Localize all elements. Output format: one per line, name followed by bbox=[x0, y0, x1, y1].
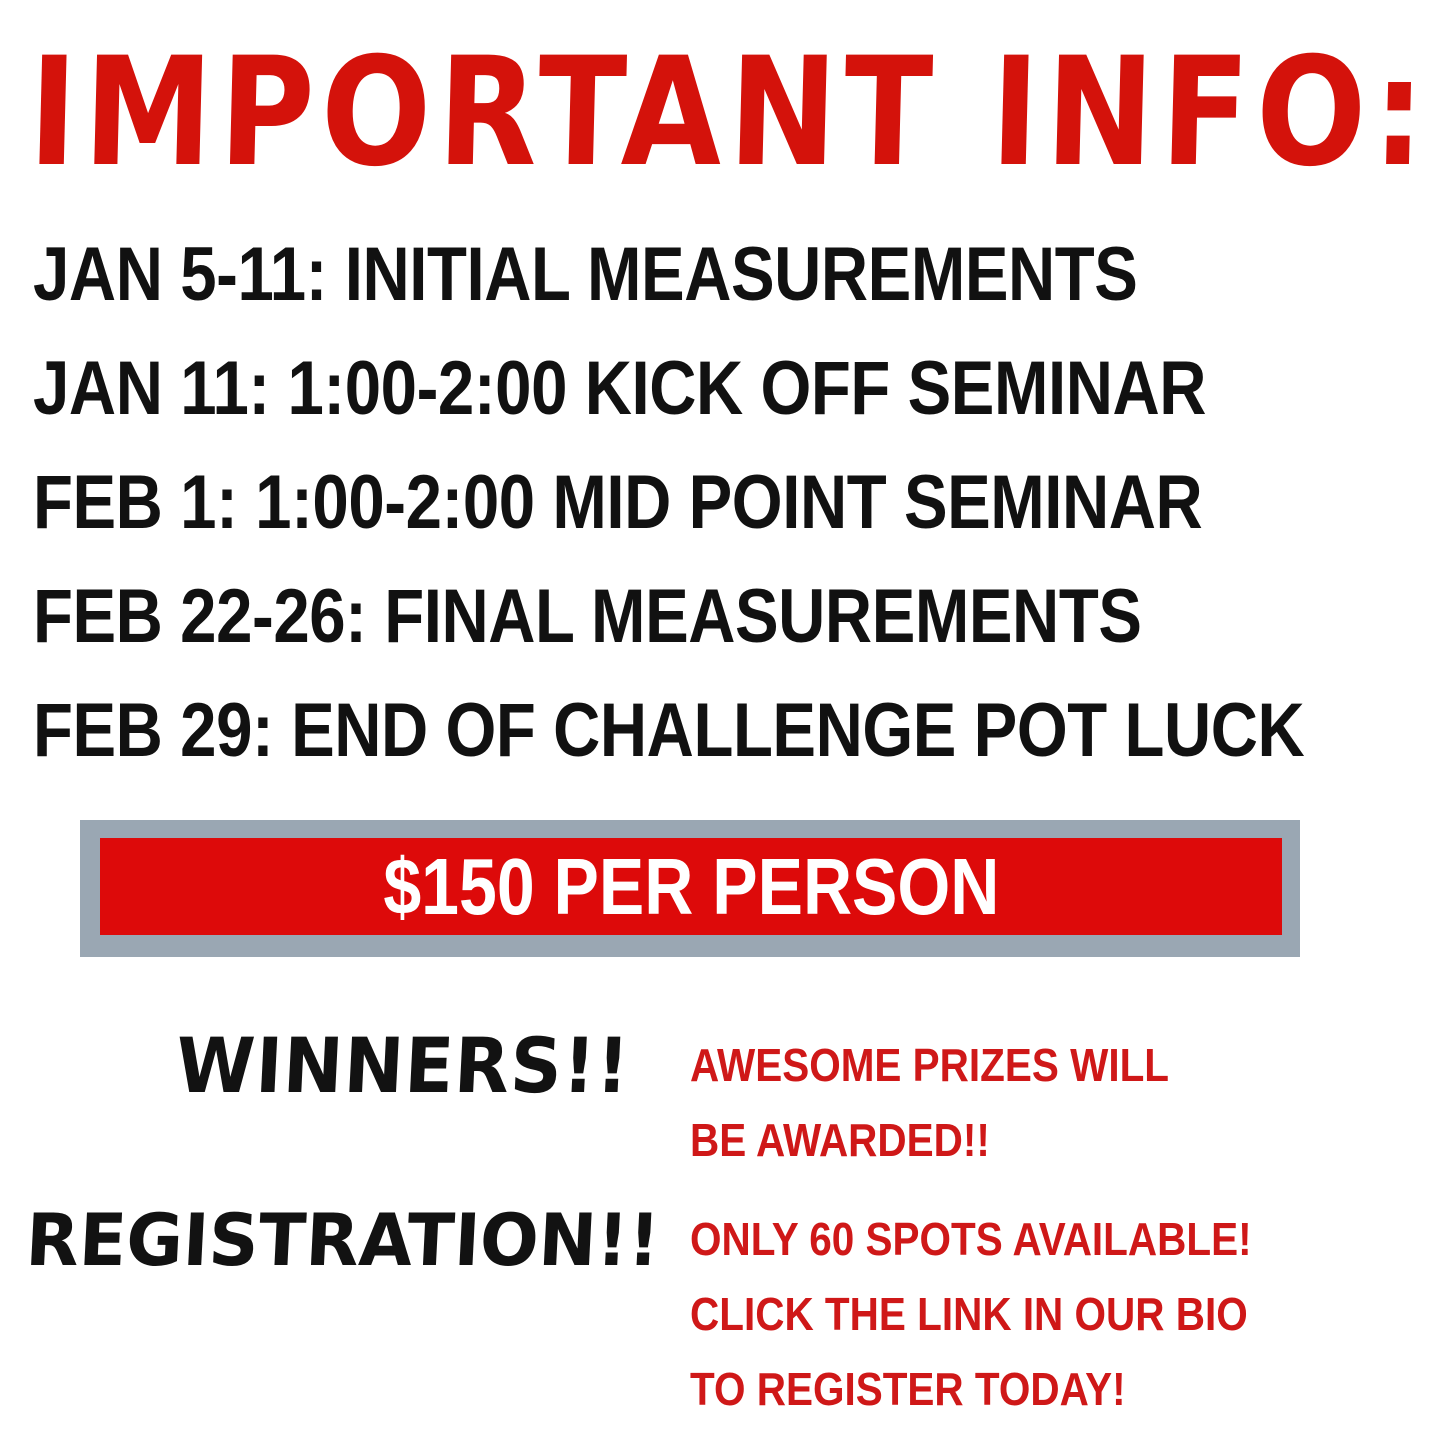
winners-heading: WINNERS!! bbox=[174, 1028, 632, 1104]
price-banner: $150 PER PERSON bbox=[80, 820, 1300, 957]
registration-detail-3: TO REGISTER TODAY! bbox=[690, 1352, 1306, 1427]
registration-heading: REGISTRATION!! bbox=[24, 1204, 661, 1276]
winners-detail-1: AWESOME PRIZES WILL bbox=[690, 1028, 1306, 1103]
schedule-item-4: FEB 22-26: FINAL MEASUREMENTS bbox=[33, 560, 1185, 674]
schedule-item-2: JAN 11: 1:00-2:00 KICK OFF SEMINAR bbox=[33, 332, 1185, 446]
winners-detail-2: BE AWARDED!! bbox=[690, 1103, 1306, 1178]
schedule-item-5: FEB 29: END OF CHALLENGE POT LUCK bbox=[33, 674, 1185, 788]
winners-section: WINNERS!! AWESOME PRIZES WILL BE AWARDED… bbox=[0, 1010, 1440, 1210]
registration-details: ONLY 60 SPOTS AVAILABLE! CLICK THE LINK … bbox=[690, 1202, 1390, 1427]
registration-detail-1: ONLY 60 SPOTS AVAILABLE! bbox=[690, 1202, 1306, 1277]
schedule-list: JAN 5-11: INITIAL MEASUREMENTS JAN 11: 1… bbox=[33, 218, 1373, 788]
registration-detail-2: CLICK THE LINK IN OUR BIO bbox=[690, 1277, 1306, 1352]
page-title: IMPORTANT INFO: bbox=[27, 38, 1413, 188]
price-banner-fill: $150 PER PERSON bbox=[100, 838, 1282, 935]
schedule-item-1: JAN 5-11: INITIAL MEASUREMENTS bbox=[33, 218, 1185, 332]
winners-details: AWESOME PRIZES WILL BE AWARDED!! bbox=[690, 1028, 1390, 1178]
schedule-item-3: FEB 1: 1:00-2:00 MID POINT SEMINAR bbox=[33, 446, 1185, 560]
registration-section: REGISTRATION!! ONLY 60 SPOTS AVAILABLE! … bbox=[0, 1190, 1440, 1390]
price-text: $150 PER PERSON bbox=[383, 847, 999, 927]
poster-canvas: IMPORTANT INFO: JAN 5-11: INITIAL MEASUR… bbox=[0, 0, 1440, 1440]
